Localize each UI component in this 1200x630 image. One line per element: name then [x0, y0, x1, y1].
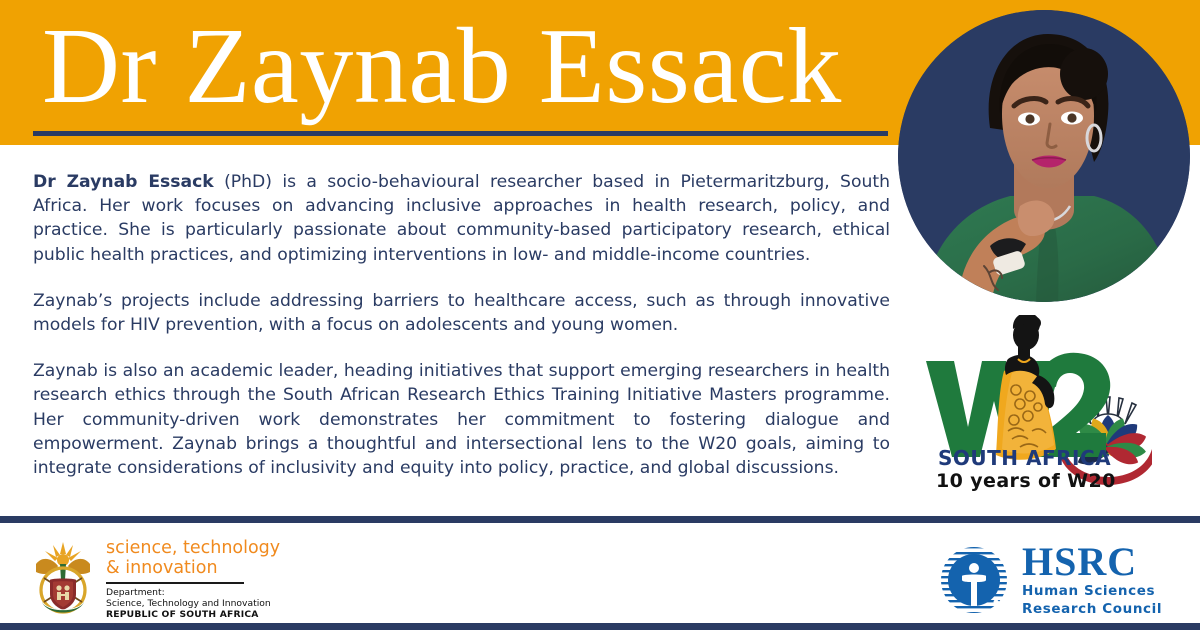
dsi-dept-line1: Department:	[106, 587, 280, 598]
bio-paragraph-3: Zaynab is also an academic leader, headi…	[33, 359, 890, 480]
dsi-logo: science, technology & innovation Departm…	[30, 536, 280, 621]
bio-text-column: Dr Zaynab Essack (PhD) is a socio-behavi…	[33, 170, 890, 480]
hsrc-acronym: HSRC	[1022, 542, 1162, 582]
hsrc-subtitle-line1: Human Sciences	[1022, 584, 1162, 600]
hsrc-subtitle-line2: Research Council	[1022, 602, 1162, 618]
hsrc-text-block: HSRC Human Sciences Research Council	[1022, 542, 1162, 617]
footer-top-divider	[0, 516, 1200, 523]
footer-bottom-divider	[0, 623, 1200, 630]
header-underline-rule	[33, 131, 888, 136]
w20-country-label: SOUTH AFRICA	[938, 446, 1111, 470]
hsrc-emblem-icon	[938, 544, 1010, 616]
poster-canvas: Dr Zaynab Essack	[0, 0, 1200, 630]
south-africa-coat-of-arms-icon	[30, 540, 96, 616]
dsi-headline-line2: & innovation	[106, 558, 280, 578]
bio-paragraph-1: Dr Zaynab Essack (PhD) is a socio-behavi…	[33, 170, 890, 267]
dsi-dept-line2: Science, Technology and Innovation	[106, 598, 280, 609]
portrait-illustration	[898, 10, 1190, 302]
dsi-dept-line3: REPUBLIC OF SOUTH AFRICA	[106, 609, 280, 620]
bio-lead-name: Dr Zaynab Essack	[33, 172, 214, 192]
w20-tagline-label: 10 years of W20	[936, 470, 1116, 492]
bio-paragraph-2: Zaynab’s projects include addressing bar…	[33, 289, 890, 337]
dsi-divider	[106, 582, 244, 584]
avatar	[898, 10, 1190, 302]
w20-logo: SOUTH AFRICA 10 years of W20	[920, 315, 1152, 505]
hsrc-logo: HSRC Human Sciences Research Council	[938, 542, 1162, 617]
african-woman-figure-icon	[996, 315, 1056, 460]
page-title: Dr Zaynab Essack	[42, 8, 902, 126]
dsi-text-block: science, technology & innovation Departm…	[106, 536, 280, 621]
dsi-headline-line1: science, technology	[106, 538, 280, 558]
